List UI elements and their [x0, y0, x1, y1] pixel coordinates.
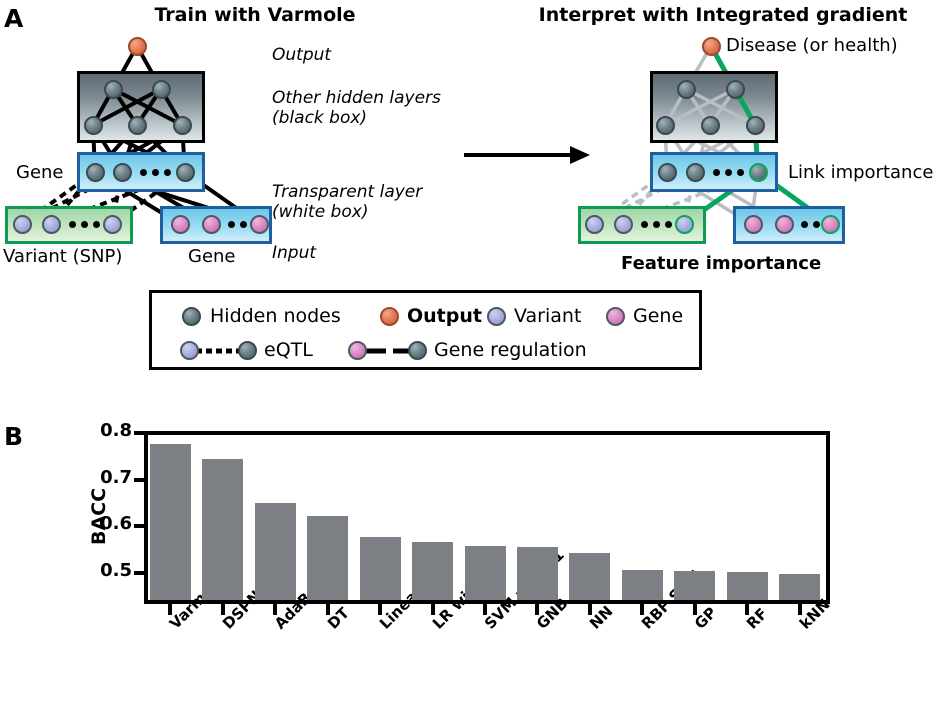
right-gene-layer-node [686, 163, 705, 182]
right-gene-layer-node-highlighted [749, 163, 768, 182]
right-hidden-node [677, 80, 696, 99]
left-gene-layer-ellipsis [140, 169, 171, 176]
legend-output-label: Output [407, 305, 482, 327]
left-gene-layer-node [86, 163, 105, 182]
chart-y-tick [134, 431, 145, 435]
legend-gene-regulation-label: Gene regulation [434, 339, 587, 361]
bar [569, 553, 610, 600]
bar [307, 516, 348, 600]
right-hidden-node [746, 116, 765, 135]
left-gene-layer-node [113, 163, 132, 182]
right-hidden-node [701, 116, 720, 135]
chart-y-tick [134, 478, 145, 482]
diagram-legend: Hidden nodes Output Variant Gene eQTL Ge… [149, 290, 702, 370]
bar [202, 459, 243, 600]
right-gene-input-node [744, 215, 763, 234]
left-variant-box-label: Variant (SNP) [3, 246, 122, 267]
chart-y-tick-label: 0.6 [82, 513, 132, 534]
right-hidden-node [726, 80, 745, 99]
left-gene-layer-node [176, 163, 195, 182]
chart-right-spine [826, 431, 830, 604]
chart-y-tick-label: 0.8 [82, 420, 132, 441]
left-hidden-node [128, 116, 147, 135]
chart-top-spine [144, 431, 830, 435]
right-hidden-node [656, 116, 675, 135]
bar [255, 503, 296, 600]
right-variant-ellipsis [641, 221, 672, 228]
bar [674, 571, 715, 600]
left-hidden-node [152, 80, 171, 99]
legend-variant-node-icon [487, 307, 506, 326]
legend-eqtl-label: eQTL [264, 339, 313, 361]
right-variant-node [585, 215, 604, 234]
right-variant-node [614, 215, 633, 234]
bar [465, 546, 506, 600]
right-feature-importance-label: Feature importance [621, 253, 821, 274]
left-hidden-node [173, 116, 192, 135]
chart-y-tick-label: 0.5 [82, 560, 132, 581]
legend-generegulation-gene-node-icon [348, 341, 367, 360]
left-hidden-node [104, 80, 123, 99]
legend-variant-label: Variant [514, 305, 581, 327]
right-variant-node-highlighted [675, 215, 694, 234]
bar [779, 574, 820, 600]
bar [622, 570, 663, 600]
bar [360, 537, 401, 600]
legend-generegulation-hidden-node-icon [408, 341, 427, 360]
left-output-node [128, 37, 147, 56]
bar [150, 444, 191, 600]
left-gene-input-node [250, 215, 269, 234]
legend-output-node-icon [380, 307, 399, 326]
right-disease-label: Disease (or health) [726, 35, 898, 56]
legend-hidden-node-icon [182, 307, 201, 326]
chart-y-tick [134, 571, 145, 575]
left-gene-input-node [171, 215, 190, 234]
bar [727, 572, 768, 600]
legend-eqtl-gene-node-icon [238, 341, 257, 360]
legend-hidden-nodes-label: Hidden nodes [210, 305, 341, 327]
right-gene-layer-ellipsis [713, 169, 744, 176]
bar [517, 547, 558, 600]
right-gene-input-node [775, 215, 794, 234]
legend-gene-node-icon [606, 307, 625, 326]
left-gene-input-node [202, 215, 221, 234]
chart-y-tick-label: 0.7 [82, 467, 132, 488]
left-gene-box-label: Gene [188, 246, 236, 267]
left-variant-node [13, 215, 32, 234]
chart-y-axis [144, 431, 148, 604]
right-gene-layer-node [658, 163, 677, 182]
left-variant-node [42, 215, 61, 234]
bar [412, 542, 453, 600]
left-hidden-node [84, 116, 103, 135]
legend-gene-label: Gene [633, 305, 683, 327]
transition-arrow-icon [462, 140, 592, 170]
chart-y-tick [134, 524, 145, 528]
left-variant-node [103, 215, 122, 234]
right-output-node [702, 37, 721, 56]
right-gene-input-node-highlighted [821, 215, 840, 234]
right-link-importance-label: Link importance [788, 162, 933, 183]
left-variant-ellipsis [69, 221, 100, 228]
legend-eqtl-variant-node-icon [180, 341, 199, 360]
left-gene-layer-label: Gene [16, 162, 64, 183]
